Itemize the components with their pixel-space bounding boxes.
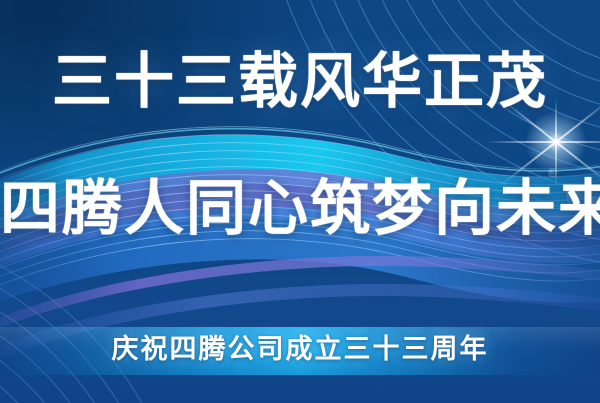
headline-line-1: 三十三载风华正茂 bbox=[0, 52, 600, 112]
headline-block: 三十三载风华正茂 四腾人同心筑梦向未来 bbox=[0, 52, 600, 239]
headline-line-2: 四腾人同心筑梦向未来 bbox=[0, 179, 600, 239]
subtitle-text: 庆祝四腾公司成立三十三周年 bbox=[0, 336, 600, 363]
anniversary-poster: 三十三载风华正茂 四腾人同心筑梦向未来 庆祝四腾公司成立三十三周年 bbox=[0, 0, 600, 403]
